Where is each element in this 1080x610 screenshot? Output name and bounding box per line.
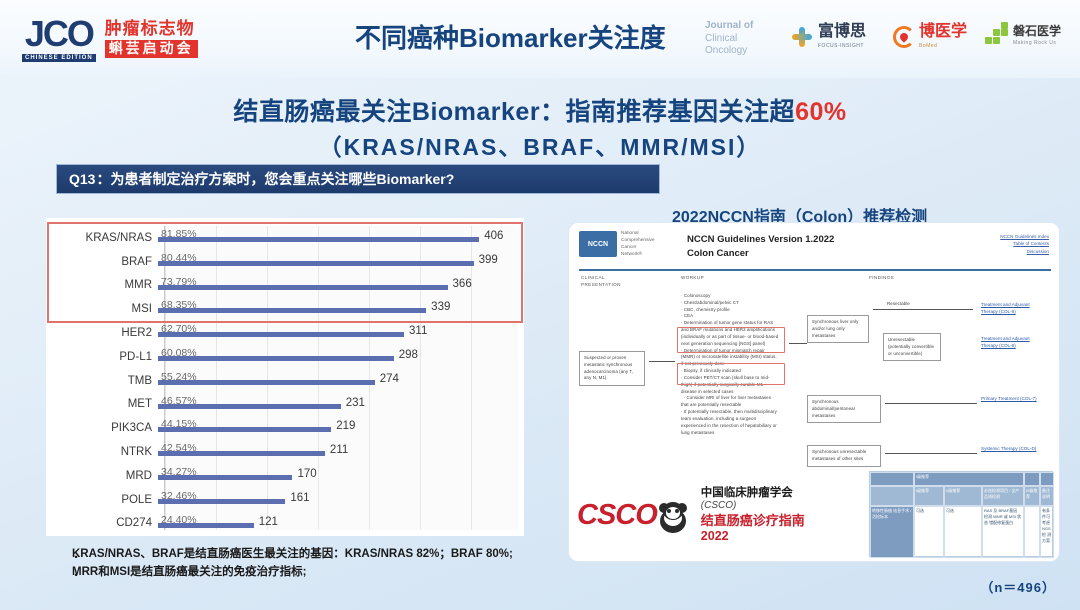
chart-bar-percent-label: 24.40% [161, 514, 197, 526]
jco-mark-line3: Oncology [705, 45, 753, 58]
chart-bar-area: 81.85%406 [158, 226, 524, 250]
table-subhead-5: 备注说明 [1040, 486, 1054, 506]
chart-bar-area: 60.08%298 [158, 345, 524, 369]
partner-logo-focus-insight: 富博思 FOCUS-INSIGHT [790, 24, 866, 49]
partner-rock-name: 磐石医学 [1013, 25, 1061, 37]
findings-synchronous-liver-lung: Synchronous liver only and/or lung only … [807, 315, 869, 343]
chart-row-label: MRD [46, 470, 158, 482]
nccn-index-links[interactable]: NCCN Guidelines Index Table of Contents … [1000, 233, 1049, 255]
chart-bar-area: 80.44%399 [158, 250, 524, 274]
nccn-index-link-2[interactable]: Table of Contents [1000, 240, 1049, 247]
page-title: 结直肠癌最关注Biomarker：指南推荐基因关注超60% [0, 92, 1080, 128]
chart-row: KRAS/NRAS81.85%406 [46, 226, 524, 250]
partner-logo-bomed: 博医学 BoMed [893, 24, 967, 49]
connector-abdominal [885, 403, 977, 404]
chart-row: POLE32.46%161 [46, 488, 524, 512]
table-cell-4: 有条件可 考虑NGS检 测方案 [1040, 506, 1054, 558]
chart-row-label: NTRK [46, 446, 158, 458]
event-badge-line2: 蝌芸启动会 [105, 40, 198, 57]
chart-bar-value-label: 170 [297, 468, 316, 480]
csco-text-block: 中国临床肿瘤学会 (CSCO) 结直肠癌诊疗指南 2022 [701, 486, 805, 545]
partner-rock-sub: Making Rock Us [1013, 40, 1061, 46]
chart-bar-value-label: 311 [409, 325, 427, 337]
chart-row-label: TMB [46, 375, 158, 387]
chart-bar-value-label: 211 [330, 444, 348, 456]
chart-bar-area: 42.54%211 [158, 440, 524, 464]
table-subhead-2: II级推荐 [944, 486, 982, 506]
csco-line1: 中国临床肿瘤学会 [701, 486, 805, 500]
chart-bar-percent-label: 80.44% [161, 252, 197, 264]
workup-highlight-ras-braf [677, 327, 785, 353]
nccn-cancer-line: Colon Cancer [687, 247, 834, 261]
csco-recommendation-table: I级推荐 I级推荐 II级推荐 必选检测项目 / 全产品线检测 III级推荐 备… [869, 471, 1053, 557]
chart-bar-percent-label: 68.35% [161, 299, 197, 311]
table-subhead-blank [870, 486, 914, 506]
column-header-workup: WORKUP [681, 275, 704, 282]
table-col-header-iii [1024, 472, 1040, 486]
chart-bar-area: 32.46%161 [158, 488, 524, 512]
csco-line2: (CSCO) [701, 500, 805, 513]
chart-bar-value-label: 339 [431, 301, 450, 313]
connector-other-sites [885, 453, 977, 454]
chart-bar-value-label: 399 [479, 254, 498, 266]
table-cell-3 [1024, 506, 1040, 558]
event-badge-line1: 肿瘤标志物 [105, 20, 198, 38]
column-header-findings: FINDINGS [869, 275, 894, 282]
nccn-index-link-1[interactable]: NCCN Guidelines Index [1000, 233, 1049, 240]
chart-row: PIK3CA44.15%219 [46, 416, 524, 440]
chart-row-label: HER2 [46, 327, 158, 339]
header-title: 不同癌种Biomarker关注度 [355, 18, 666, 55]
question-bar: Q13：为患者制定治疗方案时，您会重点关注哪些Biomarker? [56, 164, 660, 194]
nccn-version-line: NCCN Guidelines Version 1.2022 [687, 233, 834, 247]
biomarker-bar-chart: KRAS/NRAS81.85%406BRAF80.44%399MMR73.79%… [46, 218, 524, 536]
question-number: Q13 [69, 171, 95, 187]
chart-bar-percent-label: 62.70% [161, 323, 197, 335]
link-systemic-therapy-cold[interactable]: Systemic Therapy (COL-D) [981, 445, 1047, 452]
partner-bomed-sub: BoMed [919, 43, 967, 49]
chart-bar-value-label: 161 [290, 492, 309, 504]
chart-row-label: MET [46, 398, 158, 410]
chart-bar-area: 24.40%121 [158, 512, 524, 536]
chart-bar-percent-label: 32.46% [161, 490, 197, 502]
table-subhead-4: III级推荐 [1024, 486, 1040, 506]
jco-logo-subtext: CHINESE EDITION [22, 54, 96, 62]
nccn-divider [579, 269, 1051, 271]
connector-workup-to-findings [789, 343, 807, 344]
chart-row-label: BRAF [46, 256, 158, 268]
column-header-clinical: CLINICALPRESENTATION [581, 275, 621, 289]
chart-bar-area: 68.35%339 [158, 297, 524, 321]
chart-row: CD27424.40%121 [46, 512, 524, 536]
csco-line4: 2022 [701, 529, 805, 545]
nccn-index-link-3[interactable]: Discussion [1000, 248, 1049, 255]
nccn-guideline-card: NCCN NationalComprehensiveCancerNetwork®… [568, 222, 1060, 562]
chart-bar [158, 285, 448, 290]
chart-bar-percent-label: 60.08% [161, 347, 197, 359]
chart-row: MRD34.27%170 [46, 464, 524, 488]
chart-row: MSI68.35%339 [46, 297, 524, 321]
table-cell-0: 可选 [914, 506, 944, 558]
journal-clinical-oncology-mark: Journal of Clinical Oncology [705, 20, 753, 58]
chart-row-label: CD274 [46, 517, 158, 529]
brand-lockup: JCO CHINESE EDITION 肿瘤标志物 蝌芸启动会 [22, 16, 198, 62]
nccn-network-name: NationalComprehensiveCancerNetwork® [621, 231, 655, 259]
chart-row: HER262.70%311 [46, 321, 524, 345]
nccn-guideline-version: NCCN Guidelines Version 1.2022 Colon Can… [687, 233, 834, 262]
chart-bar [158, 237, 479, 242]
findings-unresectable: Unresectable (potentially convertible or… [883, 333, 941, 361]
chart-row-label: POLE [46, 494, 158, 506]
chart-row: NTRK42.54%211 [46, 440, 524, 464]
jco-logo-text: JCO [25, 16, 93, 52]
csco-guideline-lockup: CSCO 中国临床肿瘤学会 (CSCO) 结直肠癌诊疗指南 2022 [577, 473, 847, 557]
table-cell-2: RAS 及 BRAF基因 检测 MMR 或 MSI 状态 错配修复蛋白 [982, 506, 1024, 558]
chart-bar-percent-label: 73.79% [161, 276, 197, 288]
chart-bar-area: 34.27%170 [158, 464, 524, 488]
partner-bomed-name: 博医学 [919, 24, 967, 40]
table-cell-1: 可选 [944, 506, 982, 558]
chart-bar-value-label: 298 [399, 349, 418, 361]
partner-focus-name: 富博思 [818, 24, 866, 40]
link-treatment-col8[interactable]: Treatment and Adjuvant Therapy (COL-8) [981, 301, 1047, 316]
chart-row-label: KRAS/NRAS [46, 232, 158, 244]
chart-row-label: MSI [46, 303, 158, 315]
jco-logo: JCO CHINESE EDITION [22, 16, 96, 62]
table-subhead-3: 必选检测项目 / 全产品线检测 [982, 486, 1024, 506]
page-subtitle: （KRAS/NRAS、BRAF、MMR/MSI） [0, 128, 1080, 162]
question-text: ：为患者制定治疗方案时，您会重点关注哪些Biomarker? [96, 169, 454, 189]
page-title-highlight: 60% [795, 98, 847, 126]
panda-icon [651, 493, 695, 537]
chart-bar [158, 261, 474, 266]
findings-unresectable-other: Synchronous unresectable metastases of o… [807, 445, 881, 467]
clinical-presentation-box: Suspected or proven metastatic synchrono… [579, 351, 645, 386]
chart-bar-area: 62.70%311 [158, 321, 524, 345]
ring-drop-icon [893, 26, 915, 48]
chart-bar-area: 46.57%231 [158, 393, 524, 417]
nccn-header: NCCN NationalComprehensiveCancerNetwork®… [579, 231, 1051, 265]
nccn-logo-icon: NCCN [579, 231, 617, 257]
table-col-header-note [1040, 472, 1054, 486]
green-blocks-icon [985, 24, 1009, 46]
table-row-label: 转移性肠癌 姑息手术 / 活检标本 [870, 506, 914, 558]
chart-bar-percent-label: 46.57% [161, 395, 197, 407]
chart-bar-percent-label: 34.27% [161, 466, 197, 478]
chart-row: MET46.57%231 [46, 393, 524, 417]
csco-wordmark: CSCO [577, 499, 657, 532]
chart-bar-percent-label: 44.15% [161, 418, 197, 430]
summary-bullets: KRAS/NRAS、BRAF是结直肠癌医生最关注的基因：KRAS/NRAS 82… [52, 546, 652, 582]
partner-logo-rock: 磐石医学 Making Rock Us [985, 24, 1061, 46]
chart-bar-value-label: 406 [484, 230, 503, 242]
chart-row: TMB55.24%274 [46, 369, 524, 393]
chart-row: BRAF80.44%399 [46, 250, 524, 274]
chart-bar-value-label: 219 [336, 420, 355, 432]
findings-resectable: Resectable [887, 301, 939, 308]
bullet-1: KRAS/NRAS、BRAF是结直肠癌医生最关注的基因：KRAS/NRAS 82… [68, 546, 652, 564]
chart-bar-area: 44.15%219 [158, 416, 524, 440]
link-primary-treatment-col7[interactable]: Primary Treatment (COL-7) [981, 395, 1047, 402]
chart-rows: KRAS/NRAS81.85%406BRAF80.44%399MMR73.79%… [46, 226, 524, 535]
chart-row-label: PD-L1 [46, 351, 158, 363]
chart-bar-value-label: 231 [346, 397, 365, 409]
chart-row: MMR73.79%366 [46, 274, 524, 298]
table-subhead-1: I级推荐 [914, 486, 944, 506]
chart-bar-value-label: 274 [380, 373, 399, 385]
chart-bar-area: 55.24%274 [158, 369, 524, 393]
event-badge: 肿瘤标志物 蝌芸启动会 [105, 20, 198, 57]
csco-line3: 结直肠癌诊疗指南 [701, 513, 805, 529]
link-treatment-col9[interactable]: Treatment and Adjuvant Therapy (COL-9) [981, 335, 1047, 350]
chart-row: PD-L160.08%298 [46, 345, 524, 369]
chart-bar-percent-label: 81.85% [161, 228, 197, 240]
table-group-header: I级推荐 [914, 472, 1024, 486]
sample-size-label: （n＝496） [980, 577, 1056, 596]
page-header: JCO CHINESE EDITION 肿瘤标志物 蝌芸启动会 不同癌种Biom… [0, 0, 1080, 78]
findings-abdominal-peritoneal: Synchronous abdominal/peritoneal metasta… [807, 395, 881, 423]
page-title-text: 结直肠癌最关注Biomarker：指南推荐基因关注超 [233, 98, 795, 126]
workup-highlight-mmr-msi [677, 363, 785, 385]
table-col-header-item [870, 472, 914, 486]
jco-mark-line2: Clinical [705, 33, 753, 46]
chart-bar-percent-label: 55.24% [161, 371, 197, 383]
connector-clinical-to-workup [649, 361, 675, 362]
partner-focus-sub: FOCUS-INSIGHT [818, 43, 866, 49]
connector-resectable [873, 309, 973, 310]
chart-bar-percent-label: 42.54% [161, 442, 197, 454]
chart-bar [158, 308, 426, 313]
chart-bar-value-label: 121 [259, 516, 278, 528]
chart-bar-area: 73.79%366 [158, 274, 524, 298]
chart-row-label: PIK3CA [46, 422, 158, 434]
jco-mark-line1: Journal of [705, 20, 753, 33]
chart-row-label: MMR [46, 279, 158, 291]
sunburst-icon [790, 25, 814, 49]
bullet-2: MRR和MSI是结直肠癌最关注的免疫治疗指标; [68, 564, 652, 582]
chart-bar-value-label: 366 [453, 278, 472, 290]
